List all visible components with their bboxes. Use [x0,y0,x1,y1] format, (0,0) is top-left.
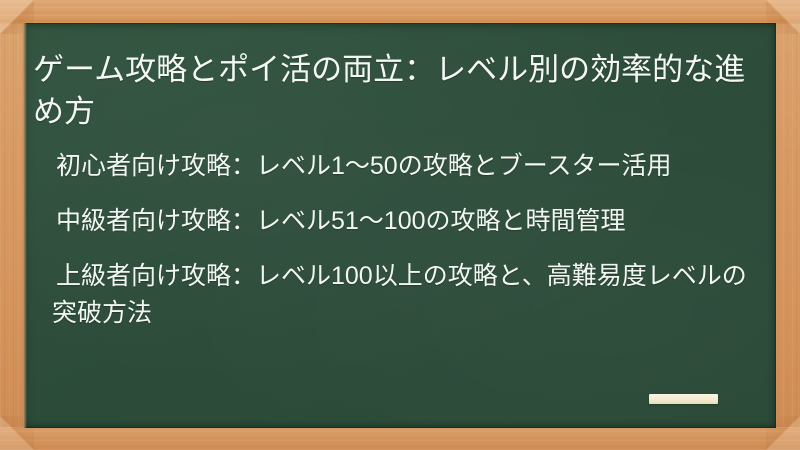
frame-bottom-rail [0,427,800,450]
chalkboard-surface: ゲーム攻略とポイ活の両立：レベル別の効率的な進め方 初心者向け攻略：レベル1〜5… [23,23,776,428]
frame-top-rail [0,0,800,24]
bullet-list: 初心者向け攻略：レベル1〜50の攻略とブースター活用 中級者向け攻略：レベル51… [33,148,759,332]
chalk-stick-icon [649,394,718,404]
chalkboard-slide: ゲーム攻略とポイ活の両立：レベル別の効率的な進め方 初心者向け攻略：レベル1〜5… [0,0,800,450]
page-title: ゲーム攻略とポイ活の両立：レベル別の効率的な進め方 [33,49,755,133]
board-content: ゲーム攻略とポイ活の両立：レベル別の効率的な進め方 初心者向け攻略：レベル1〜5… [23,23,776,428]
list-item: 中級者向け攻略：レベル51〜100の攻略と時間管理 [33,203,759,240]
list-item: 初心者向け攻略：レベル1〜50の攻略とブースター活用 [33,148,759,185]
list-item: 上級者向け攻略：レベル100以上の攻略と、高難易度レベルの突破方法 [33,258,759,332]
